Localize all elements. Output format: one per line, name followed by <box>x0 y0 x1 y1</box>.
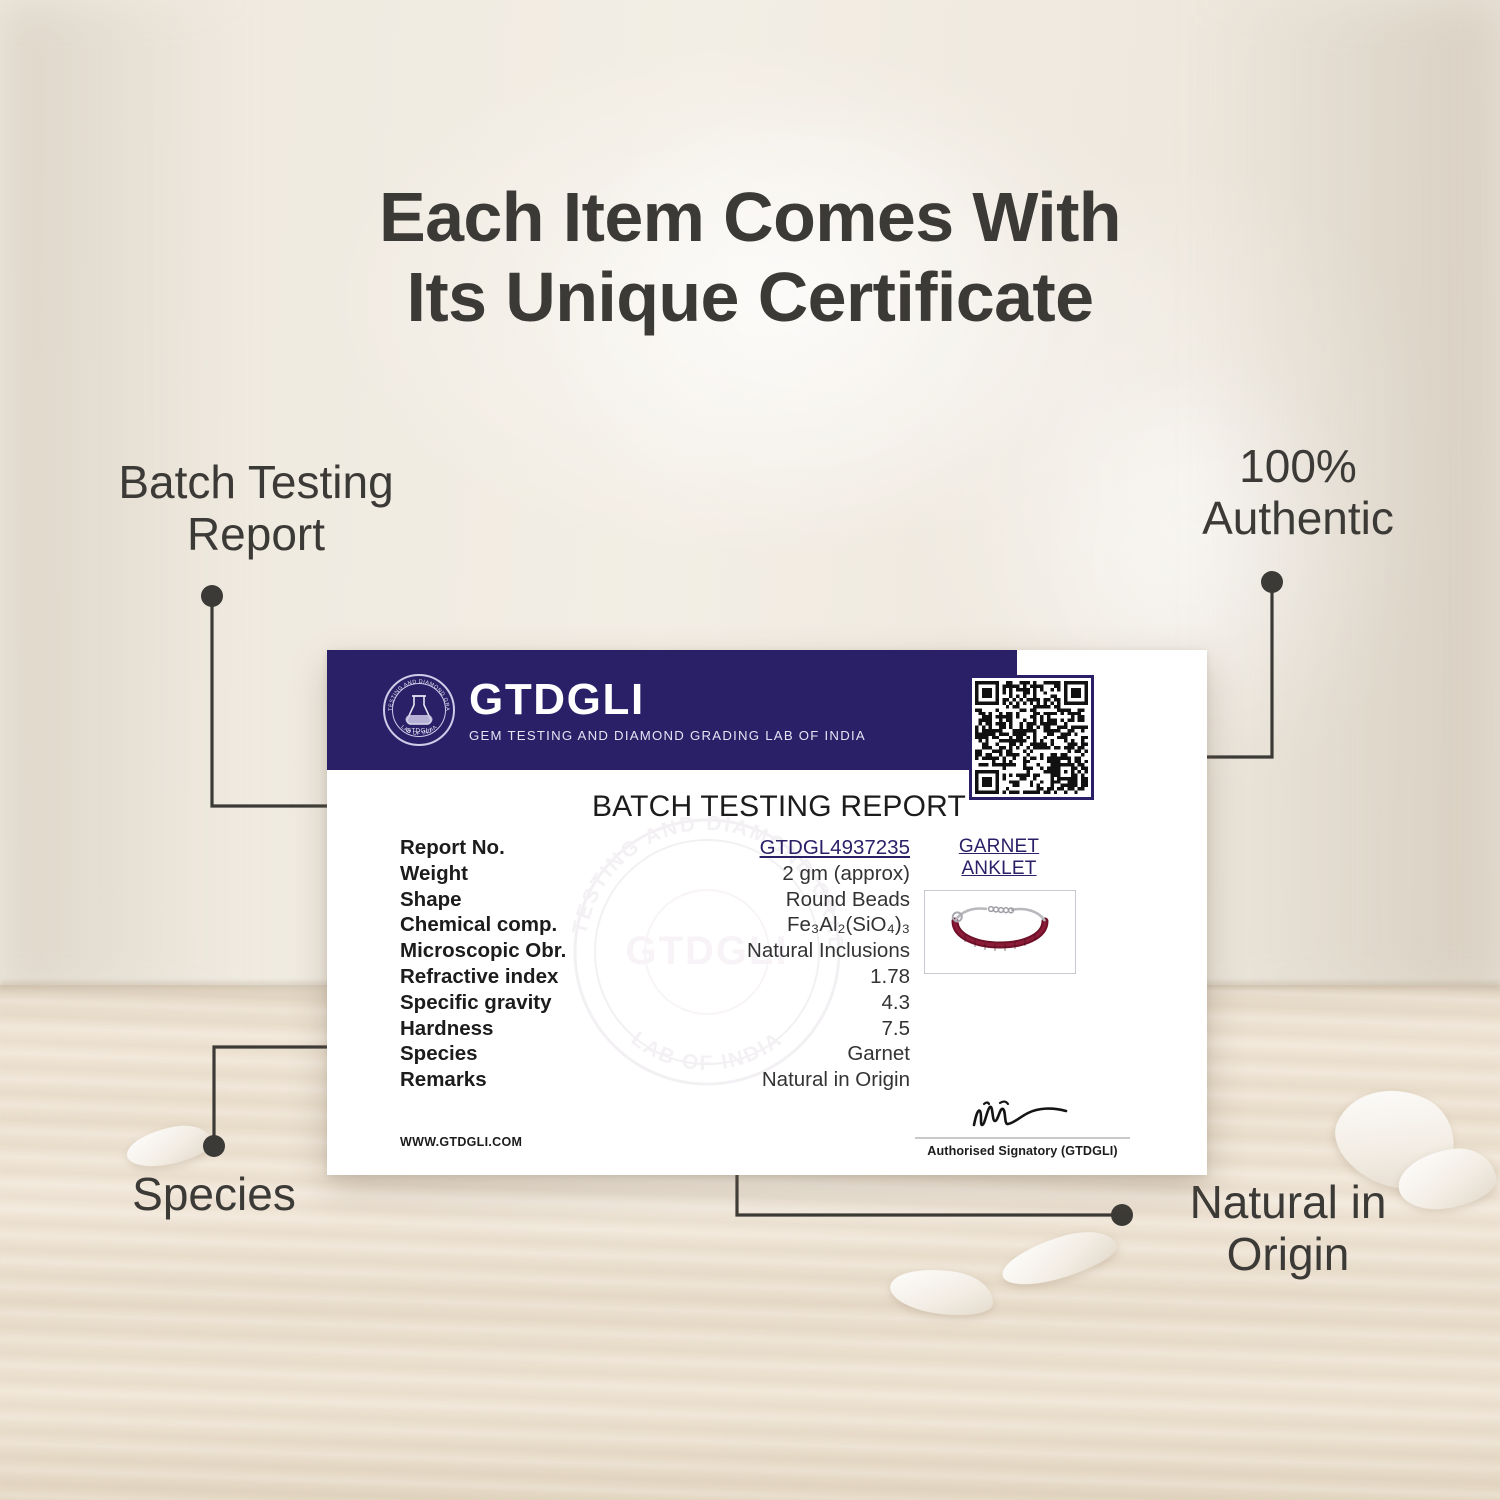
spec-value: Garnet <box>847 1042 910 1066</box>
brand-name: GTDGLI <box>469 678 866 722</box>
spec-label: Refractive index <box>400 965 558 989</box>
spec-row: Hardness7.5 <box>400 1017 910 1043</box>
spec-label: Remarks <box>400 1068 487 1092</box>
product-panel: GARNET ANKLET <box>924 836 1144 974</box>
brand-tagline: GEM TESTING AND DIAMOND GRADING LAB OF I… <box>469 729 866 742</box>
connector-dot-authentic <box>1261 571 1283 593</box>
callout-label-authentic: 100% Authentic <box>1128 440 1468 545</box>
spec-label: Specific gravity <box>400 991 552 1015</box>
callout-label-species: Species <box>64 1168 364 1220</box>
spec-value[interactable]: GTDGL4937235 <box>760 836 910 860</box>
product-photo <box>924 890 1076 974</box>
spec-row: RemarksNatural in Origin <box>400 1068 910 1094</box>
spec-value: 4.3 <box>882 991 911 1015</box>
spec-value: Round Beads <box>786 888 910 912</box>
certificate-footer: WWW.GTDGLI.COM Authorised Signatory (GTD… <box>327 1095 1207 1175</box>
spec-row: Refractive index1.78 <box>400 965 910 991</box>
spec-row: Weight2 gm (approx) <box>400 862 910 888</box>
svg-text:GEM TESTING AND DIAMOND GRADIN: GEM TESTING AND DIAMOND GRADING <box>383 674 450 711</box>
signature-block: Authorised Signatory (GTDGLI) <box>915 1095 1130 1158</box>
spec-label: Microscopic Obr. <box>400 939 566 963</box>
svg-text:GTDGLI: GTDGLI <box>406 728 431 735</box>
handwritten-signature <box>915 1095 1130 1135</box>
spec-row: Microscopic Obr.Natural Inclusions <box>400 939 910 965</box>
spec-label: Weight <box>400 862 468 886</box>
signature-rule <box>915 1137 1130 1139</box>
spec-value: Fe₃Al₂(SiO₄)₃ <box>787 913 910 937</box>
spec-value: 1.78 <box>870 965 910 989</box>
spec-label: Report No. <box>400 836 505 860</box>
callout-label-batch-testing-report: Batch Testing Report <box>46 456 466 561</box>
connector-dot-species <box>203 1135 225 1157</box>
spec-label: Hardness <box>400 1017 493 1041</box>
spec-label: Shape <box>400 888 462 912</box>
certificate-card[interactable]: GEM TESTING AND DIAMOND GRADING LAB OF I… <box>327 650 1207 1175</box>
promo-graphic: Each Item Comes With Its Unique Certific… <box>0 0 1500 1500</box>
spec-label: Species <box>400 1042 478 1066</box>
brand-lockup: GEM TESTING AND DIAMOND GRADING LAB OF I… <box>383 674 866 746</box>
connector-dot-batch-testing-report <box>201 585 223 607</box>
specification-table: Report No.GTDGL4937235Weight2 gm (approx… <box>400 836 910 1094</box>
qr-code[interactable] <box>969 675 1094 800</box>
spec-value: Natural Inclusions <box>747 939 910 963</box>
signature-caption: Authorised Signatory (GTDGLI) <box>915 1144 1130 1158</box>
spec-value: 2 gm (approx) <box>782 862 910 886</box>
spec-row: Chemical comp.Fe₃Al₂(SiO₄)₃ <box>400 913 910 939</box>
product-title: GARNET ANKLET <box>924 836 1074 880</box>
spec-row: Specific gravity4.3 <box>400 991 910 1017</box>
connector-dot-natural-in-origin <box>1111 1204 1133 1226</box>
spec-row: ShapeRound Beads <box>400 888 910 914</box>
gtdgli-seal-icon: GEM TESTING AND DIAMOND GRADING LAB OF I… <box>383 674 455 746</box>
callout-label-natural-in-origin: Natural in Origin <box>1138 1176 1438 1281</box>
spec-value: 7.5 <box>882 1017 911 1041</box>
website-url[interactable]: WWW.GTDGLI.COM <box>400 1135 522 1149</box>
spec-row: Report No.GTDGL4937235 <box>400 836 910 862</box>
spec-label: Chemical comp. <box>400 913 557 937</box>
spec-row: SpeciesGarnet <box>400 1042 910 1068</box>
report-title: BATCH TESTING REPORT <box>564 790 994 824</box>
spec-value: Natural in Origin <box>762 1068 910 1092</box>
